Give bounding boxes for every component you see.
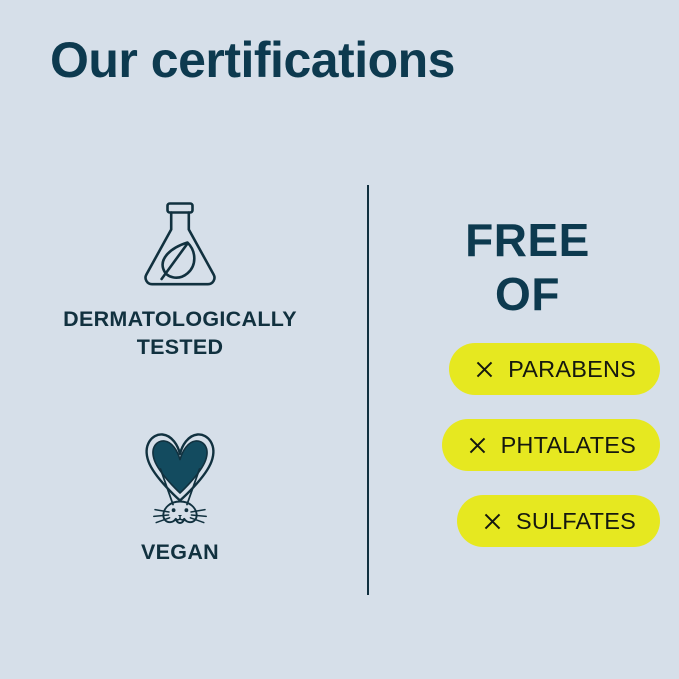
excluded-ingredients-list: PARABENS PHTALATES SULFATES xyxy=(395,343,660,547)
certification-label: VEGAN xyxy=(20,539,340,567)
excluded-ingredient-pill-parabens[interactable]: PARABENS xyxy=(449,343,660,395)
excluded-ingredient-label: PARABENS xyxy=(508,356,636,383)
certification-label-line1: DERMATOLOGICALLY xyxy=(20,306,340,334)
column-divider xyxy=(367,185,369,595)
excluded-ingredient-pill-sulfates[interactable]: SULFATES xyxy=(457,495,660,547)
certification-label-line1: VEGAN xyxy=(20,539,340,567)
certifications-panel: Our certifications DERMATOLOGICALLY xyxy=(0,0,679,679)
free-of-heading-line2: OF xyxy=(395,267,660,321)
certification-item-vegan: VEGAN xyxy=(20,430,340,567)
excluded-ingredient-label: SULFATES xyxy=(516,508,636,535)
excluded-ingredient-label: PHTALATES xyxy=(501,432,636,459)
x-icon xyxy=(483,512,502,531)
page-title: Our certifications xyxy=(50,32,455,88)
certifications-list: DERMATOLOGICALLY TESTED xyxy=(20,185,340,595)
certification-label: DERMATOLOGICALLY TESTED xyxy=(20,306,340,361)
x-icon xyxy=(468,436,487,455)
bunny-heart-ears-icon xyxy=(128,430,232,530)
free-of-heading-line1: FREE xyxy=(395,213,660,267)
excluded-ingredient-pill-phtalates[interactable]: PHTALATES xyxy=(442,419,660,471)
certification-item-dermatologically-tested: DERMATOLOGICALLY TESTED xyxy=(20,200,340,361)
x-icon xyxy=(475,360,494,379)
free-of-heading: FREE OF xyxy=(395,213,660,322)
free-of-section: FREE OF PARABENS PHTALATES SULFATE xyxy=(395,185,660,595)
certification-label-line2: TESTED xyxy=(20,334,340,362)
flask-leaf-icon xyxy=(137,200,223,288)
